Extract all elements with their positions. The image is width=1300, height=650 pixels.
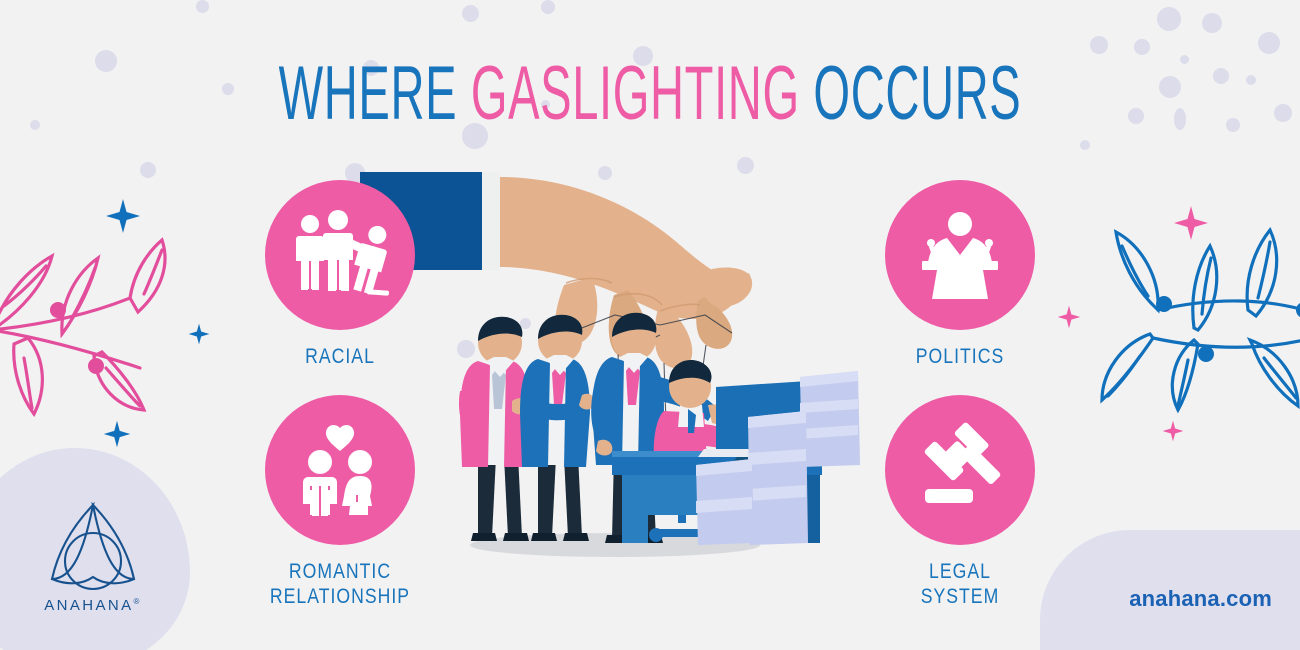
- bg-dot: [462, 5, 479, 22]
- thumb: [704, 268, 752, 308]
- website-url[interactable]: anahana.com: [1129, 586, 1272, 612]
- blue-leaf-branch-decoration: [1098, 228, 1300, 413]
- category-label-line2: RELATIONSHIP: [231, 584, 449, 609]
- bg-dot: [30, 120, 40, 130]
- pink-sparkle-icon: [1162, 420, 1184, 442]
- infographic-canvas: WHERE GASLIGHTING OCCURS: [0, 0, 1300, 650]
- bg-dot: [1226, 118, 1240, 132]
- blue-sparkle-icon: [105, 198, 141, 234]
- anahana-wordmark: ANAHANA®: [28, 597, 158, 614]
- shoe: [563, 533, 589, 541]
- title-part-occurs: OCCURS: [800, 51, 1022, 136]
- triquetra-logo-icon: [42, 499, 144, 591]
- racial-icon-circle[interactable]: [265, 180, 415, 330]
- romantic-icon-circle[interactable]: [265, 395, 415, 545]
- category-label-legal: LEGAL SYSTEM: [851, 559, 1069, 609]
- leg: [564, 455, 582, 537]
- blue-sparkle-icon: [103, 420, 131, 448]
- shoe: [531, 533, 557, 541]
- pink-sparkle-icon: [1173, 205, 1209, 241]
- three-people-bullying-icon: [293, 212, 387, 298]
- bg-dot: [1134, 39, 1150, 55]
- category-romantic-relationship[interactable]: ROMANTIC RELATIONSHIP: [210, 395, 470, 609]
- category-label-line2: SYSTEM: [851, 584, 1069, 609]
- bg-dot: [1128, 108, 1144, 124]
- title-part-where: WHERE: [279, 51, 471, 136]
- category-label-line1: ROMANTIC: [231, 559, 449, 584]
- category-label-politics: POLITICS: [851, 344, 1069, 369]
- bg-dot: [1180, 55, 1189, 64]
- title-part-gaslighting: GASLIGHTING: [471, 51, 800, 136]
- shoe: [471, 533, 497, 541]
- category-label-line1: LEGAL: [851, 559, 1069, 584]
- bg-dot: [1080, 140, 1090, 150]
- bg-dot: [196, 0, 209, 13]
- bg-dot: [541, 0, 555, 14]
- category-politics[interactable]: POLITICS: [830, 180, 1090, 369]
- pink-leaf-branch-decoration: [0, 238, 210, 418]
- paper-stack-floor-large: [748, 411, 808, 545]
- logo-name-text: ANAHANA: [44, 597, 133, 614]
- bg-dot: [1174, 108, 1186, 130]
- podium-speaker-icon: [914, 211, 1006, 299]
- page-title: WHERE GASLIGHTING OCCURS: [247, 52, 1053, 136]
- politics-icon-circle[interactable]: [885, 180, 1035, 330]
- bg-dot: [1157, 7, 1181, 31]
- logo-trademark: ®: [134, 597, 142, 606]
- couple-heart-icon: [298, 424, 382, 516]
- shoe: [503, 533, 529, 541]
- bg-dot: [222, 83, 234, 95]
- legal-icon-circle[interactable]: [885, 395, 1035, 545]
- standing-businessman-blue-crossed: [520, 315, 594, 541]
- leg: [538, 455, 556, 537]
- leg: [504, 455, 522, 537]
- desk-leg: [622, 475, 648, 543]
- category-label-romantic: ROMANTIC RELATIONSHIP: [231, 559, 449, 609]
- bg-dot: [1274, 104, 1292, 122]
- category-racial[interactable]: RACIAL: [210, 180, 470, 369]
- bg-dot: [1159, 76, 1181, 98]
- blue-sparkle-icon: [188, 323, 210, 345]
- bg-dot: [1258, 32, 1280, 54]
- bg-dot: [1246, 75, 1256, 85]
- bg-dot: [1202, 13, 1222, 33]
- category-label-racial: RACIAL: [231, 344, 449, 369]
- leg: [478, 455, 496, 537]
- paper-stack-floor-small: [696, 459, 754, 545]
- bg-dot: [1213, 68, 1229, 84]
- bg-dot: [140, 162, 156, 178]
- bg-dot: [1090, 36, 1108, 54]
- shirt-cuff: [482, 172, 500, 270]
- bg-dot: [95, 50, 117, 72]
- gavel-icon: [915, 427, 1005, 513]
- chair-wheel: [649, 528, 663, 542]
- anahana-logo[interactable]: ANAHANA®: [28, 499, 158, 614]
